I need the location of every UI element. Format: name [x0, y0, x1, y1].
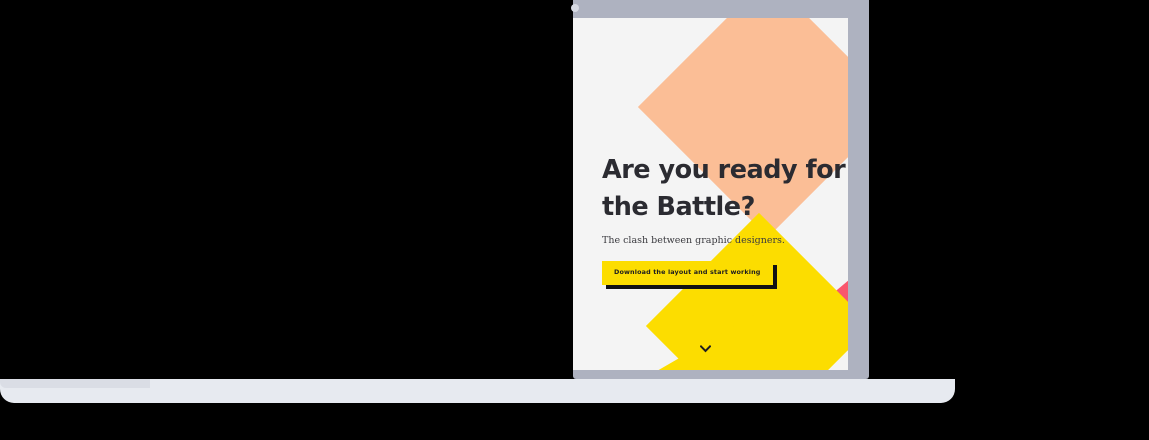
- laptop-screen: Are you ready for the Battle? The clash …: [573, 18, 848, 370]
- chevron-down-icon: [700, 345, 711, 353]
- hero-subtitle: The clash between graphic designers.: [602, 234, 848, 247]
- hero-section: Are you ready for the Battle? The clash …: [602, 152, 848, 285]
- scroll-down-button[interactable]: [698, 342, 712, 356]
- download-layout-button[interactable]: Download the layout and start working: [602, 261, 773, 285]
- cta-wrapper: Download the layout and start working: [602, 261, 773, 285]
- camera-dot-icon: [571, 4, 579, 12]
- canvas-stage: Are you ready for the Battle? The clash …: [0, 0, 1149, 440]
- laptop-mockup: Are you ready for the Battle? The clash …: [573, 0, 869, 400]
- page-title: Are you ready for the Battle?: [602, 152, 848, 226]
- laptop-base-notch: [0, 379, 150, 388]
